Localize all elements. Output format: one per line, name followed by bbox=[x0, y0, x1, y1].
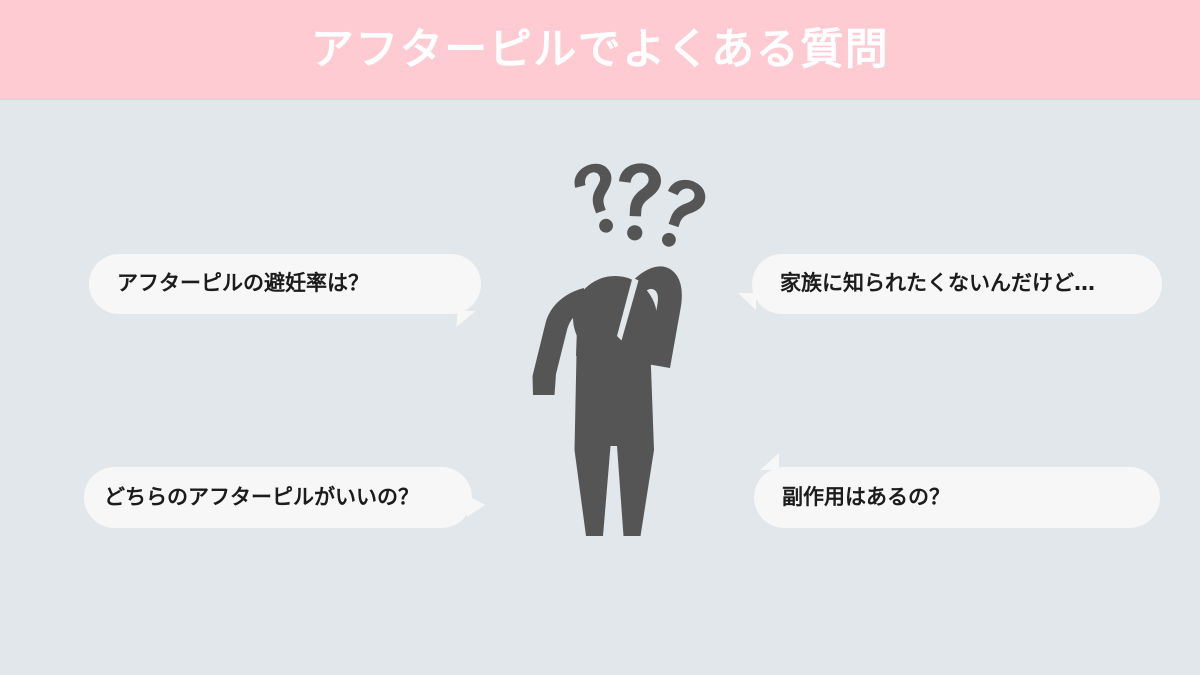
question-bubble-4[interactable]: 副作用はあるの？ bbox=[754, 467, 1160, 528]
confused-person-illustration bbox=[520, 150, 710, 550]
question-bubble-3-text: どちらのアフターピルがいいの？ bbox=[104, 485, 419, 510]
question-mark-center bbox=[617, 163, 662, 242]
question-bubble-3[interactable]: どちらのアフターピルがいいの？ bbox=[84, 467, 472, 528]
confused-person-icon bbox=[520, 150, 710, 550]
question-mark-right bbox=[652, 175, 710, 253]
bubble-tail-bottom-right bbox=[456, 311, 475, 327]
question-bubble-4-text: 副作用はあるの？ bbox=[782, 485, 950, 510]
question-bubble-1[interactable]: アフターピルの避妊率は？ bbox=[89, 254, 481, 314]
figure-body bbox=[575, 354, 655, 536]
bubble-tail-top-left bbox=[760, 453, 779, 470]
header-banner: アフターピルでよくある質問 bbox=[0, 0, 1200, 100]
question-mark-left bbox=[569, 159, 629, 238]
bubble-tail-right bbox=[467, 495, 485, 517]
page-root: アフターピルでよくある質問 bbox=[0, 0, 1200, 675]
page-title: アフターピルでよくある質問 bbox=[311, 29, 890, 72]
question-bubble-2[interactable]: 家族に知られたくないんだけど… bbox=[752, 254, 1162, 314]
bubble-tail-left bbox=[738, 293, 756, 310]
question-bubble-2-text: 家族に知られたくないんだけど… bbox=[780, 271, 1095, 296]
question-bubble-1-text: アフターピルの避妊率は？ bbox=[117, 271, 369, 296]
